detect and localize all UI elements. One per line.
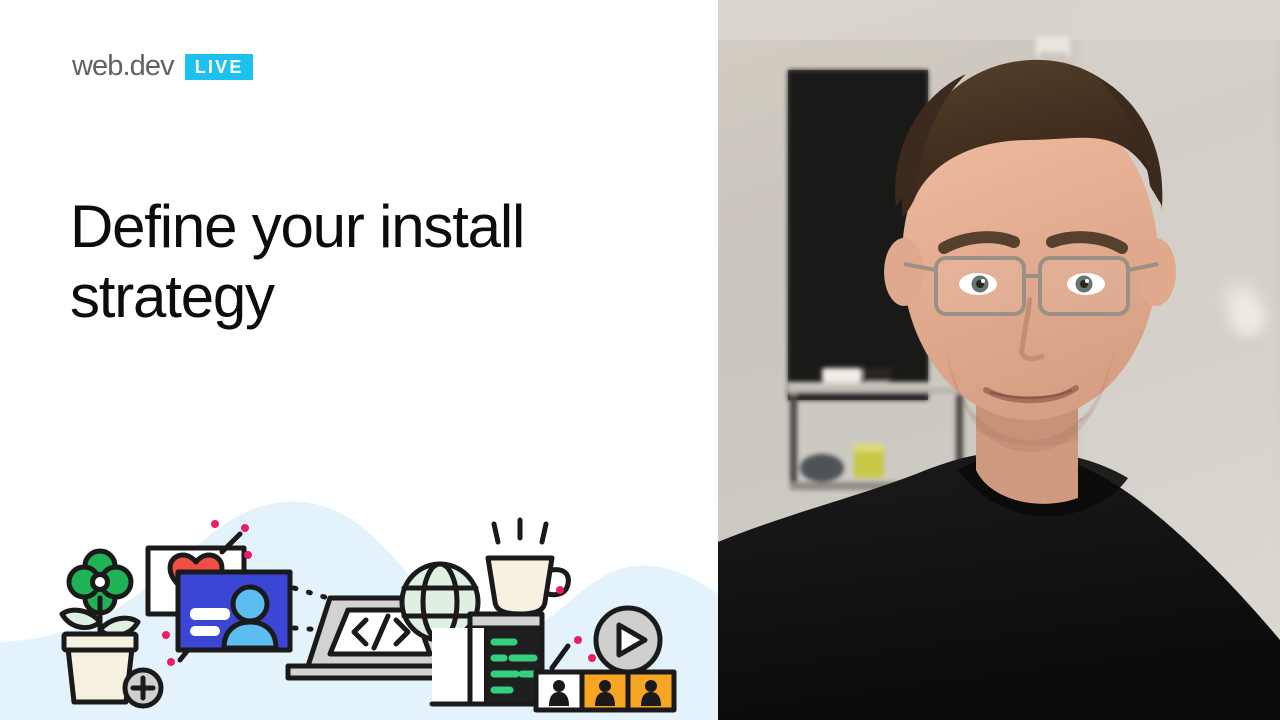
hero-illustration — [0, 480, 718, 720]
slide-panel: web.dev LIVE Define your install strateg… — [0, 0, 718, 720]
logo-wordmark: web.dev — [72, 52, 174, 81]
sparkle-cluster-right — [552, 586, 596, 668]
slide-title: Define your install strategy — [70, 192, 630, 331]
coffee-cup-icon — [488, 520, 568, 614]
play-button-icon — [596, 608, 660, 672]
wall-vent — [1036, 36, 1070, 58]
participant-tiles-icon — [536, 672, 674, 710]
live-badge: LIVE — [185, 54, 253, 80]
presentation-stage: web.dev LIVE Define your install strateg… — [0, 0, 1280, 720]
web-dev-live-logo: web.dev LIVE — [72, 52, 253, 81]
profile-card-icon — [178, 572, 290, 650]
webcam-video-panel — [718, 0, 1280, 720]
webcam-frame — [718, 0, 1280, 720]
